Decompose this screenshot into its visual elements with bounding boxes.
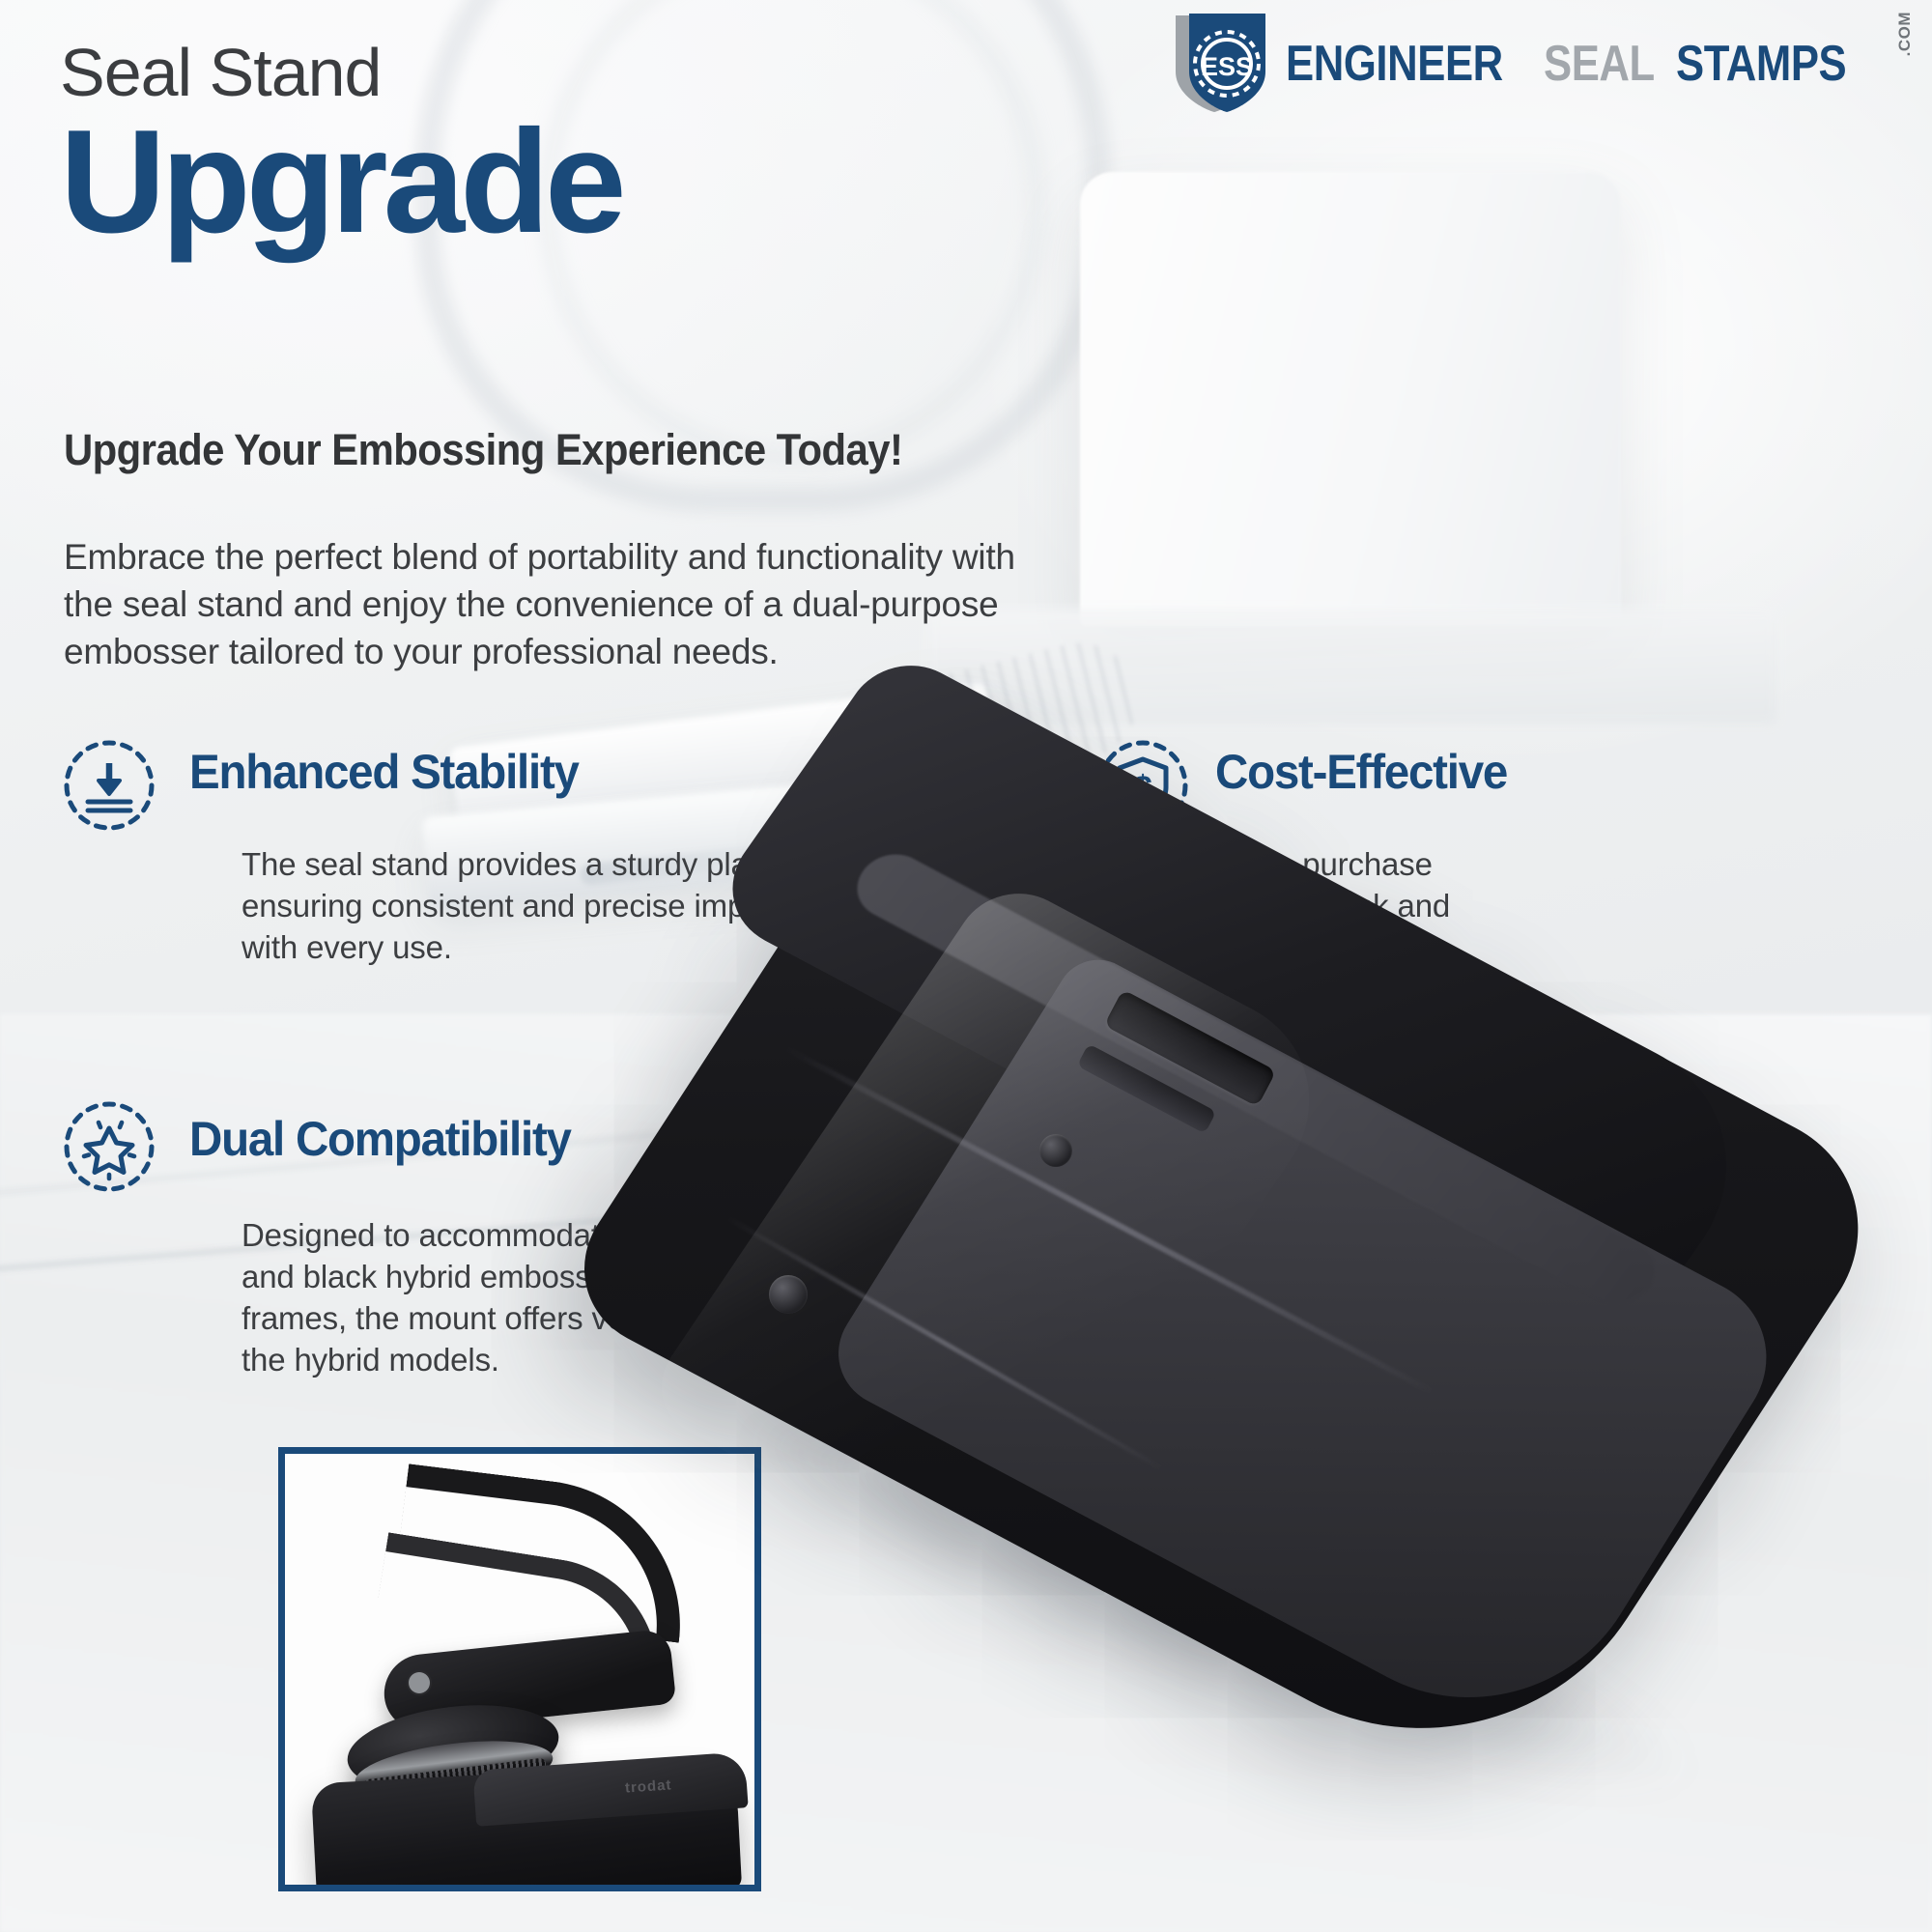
product-screw-upper bbox=[1039, 1134, 1072, 1167]
page-subheading: Upgrade Your Embossing Experience Today! bbox=[64, 425, 1034, 475]
ess-shield-icon: ESS bbox=[1170, 12, 1270, 116]
background-laptop-screen bbox=[1080, 172, 1621, 626]
feature-title: Cost-Effective bbox=[1215, 748, 1507, 796]
brand-logo[interactable]: ESS ENGINEER SEAL STAMPS .COM bbox=[1170, 12, 1913, 116]
press-down-badge-icon bbox=[56, 732, 162, 838]
svg-text:ESS: ESS bbox=[1201, 52, 1253, 81]
page-kicker: Seal Stand bbox=[60, 39, 1026, 106]
embosser-hinge-pin bbox=[409, 1672, 430, 1693]
feature-title: Dual Compatibility bbox=[189, 1115, 571, 1163]
page-intro-paragraph: Embrace the perfect blend of portability… bbox=[64, 533, 1049, 676]
wordmark-stamps: STAMPS bbox=[1676, 39, 1846, 89]
feature-title: Enhanced Stability bbox=[189, 748, 579, 796]
page-header: Seal Stand Upgrade bbox=[60, 39, 1026, 253]
main-product-photo bbox=[649, 838, 1932, 1932]
page-title: Upgrade bbox=[60, 112, 1026, 253]
brand-wordmark: ENGINEER SEAL STAMPS bbox=[1286, 39, 1879, 89]
wordmark-engineer: ENGINEER bbox=[1286, 39, 1503, 89]
star-sparkle-badge-icon bbox=[56, 1094, 162, 1200]
wordmark-seal: SEAL bbox=[1544, 39, 1655, 89]
product-screw-lower bbox=[769, 1275, 808, 1314]
wordmark-dotcom: .COM bbox=[1896, 12, 1913, 56]
